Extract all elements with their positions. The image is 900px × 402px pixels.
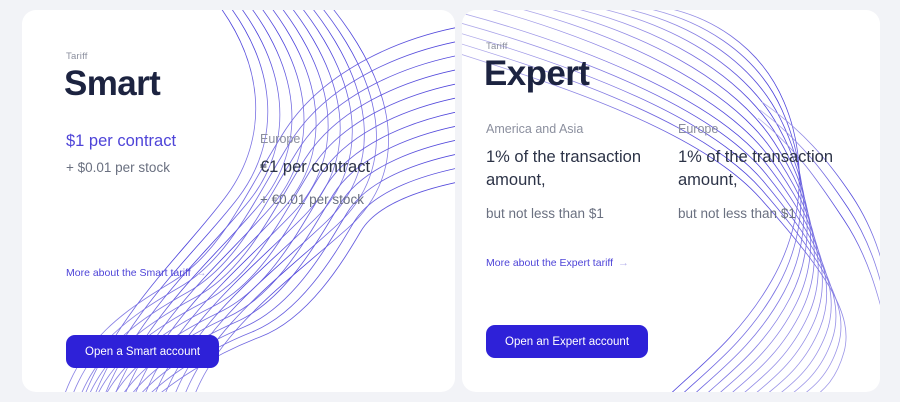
arrow-right-icon: → <box>618 257 629 269</box>
more-link-label-expert: More about the Expert tariff <box>486 257 613 269</box>
pricing-column-expert-europe: Europe 1% of the transaction amount, but… <box>678 122 853 224</box>
pricing-column-expert-america-asia: America and Asia 1% of the transaction a… <box>486 122 661 224</box>
card-title-expert: Expert <box>484 56 589 91</box>
more-about-expert-tariff-link[interactable]: More about the Expert tariff→ <box>486 257 629 269</box>
column-heading-expert-europe: Europe <box>678 122 853 136</box>
pricing-cards-stage: Tariff Smart $1 per contract + $0.01 per… <box>0 0 900 402</box>
open-expert-account-button[interactable]: Open an Expert account <box>486 325 648 358</box>
expert-text-layer: Tariff Expert America and Asia 1% of the… <box>0 0 900 402</box>
price-sub-expert-eur: but not less than $1 <box>678 205 853 224</box>
price-main-expert-america-asia: 1% of the transaction amount, <box>486 146 661 193</box>
price-main-expert-eur: 1% of the transaction amount, <box>678 146 853 193</box>
price-sub-expert-america-asia: but not less than $1 <box>486 205 661 224</box>
eyebrow-label-expert: Tariff <box>486 41 508 52</box>
column-heading-expert-america-asia: America and Asia <box>486 122 661 136</box>
